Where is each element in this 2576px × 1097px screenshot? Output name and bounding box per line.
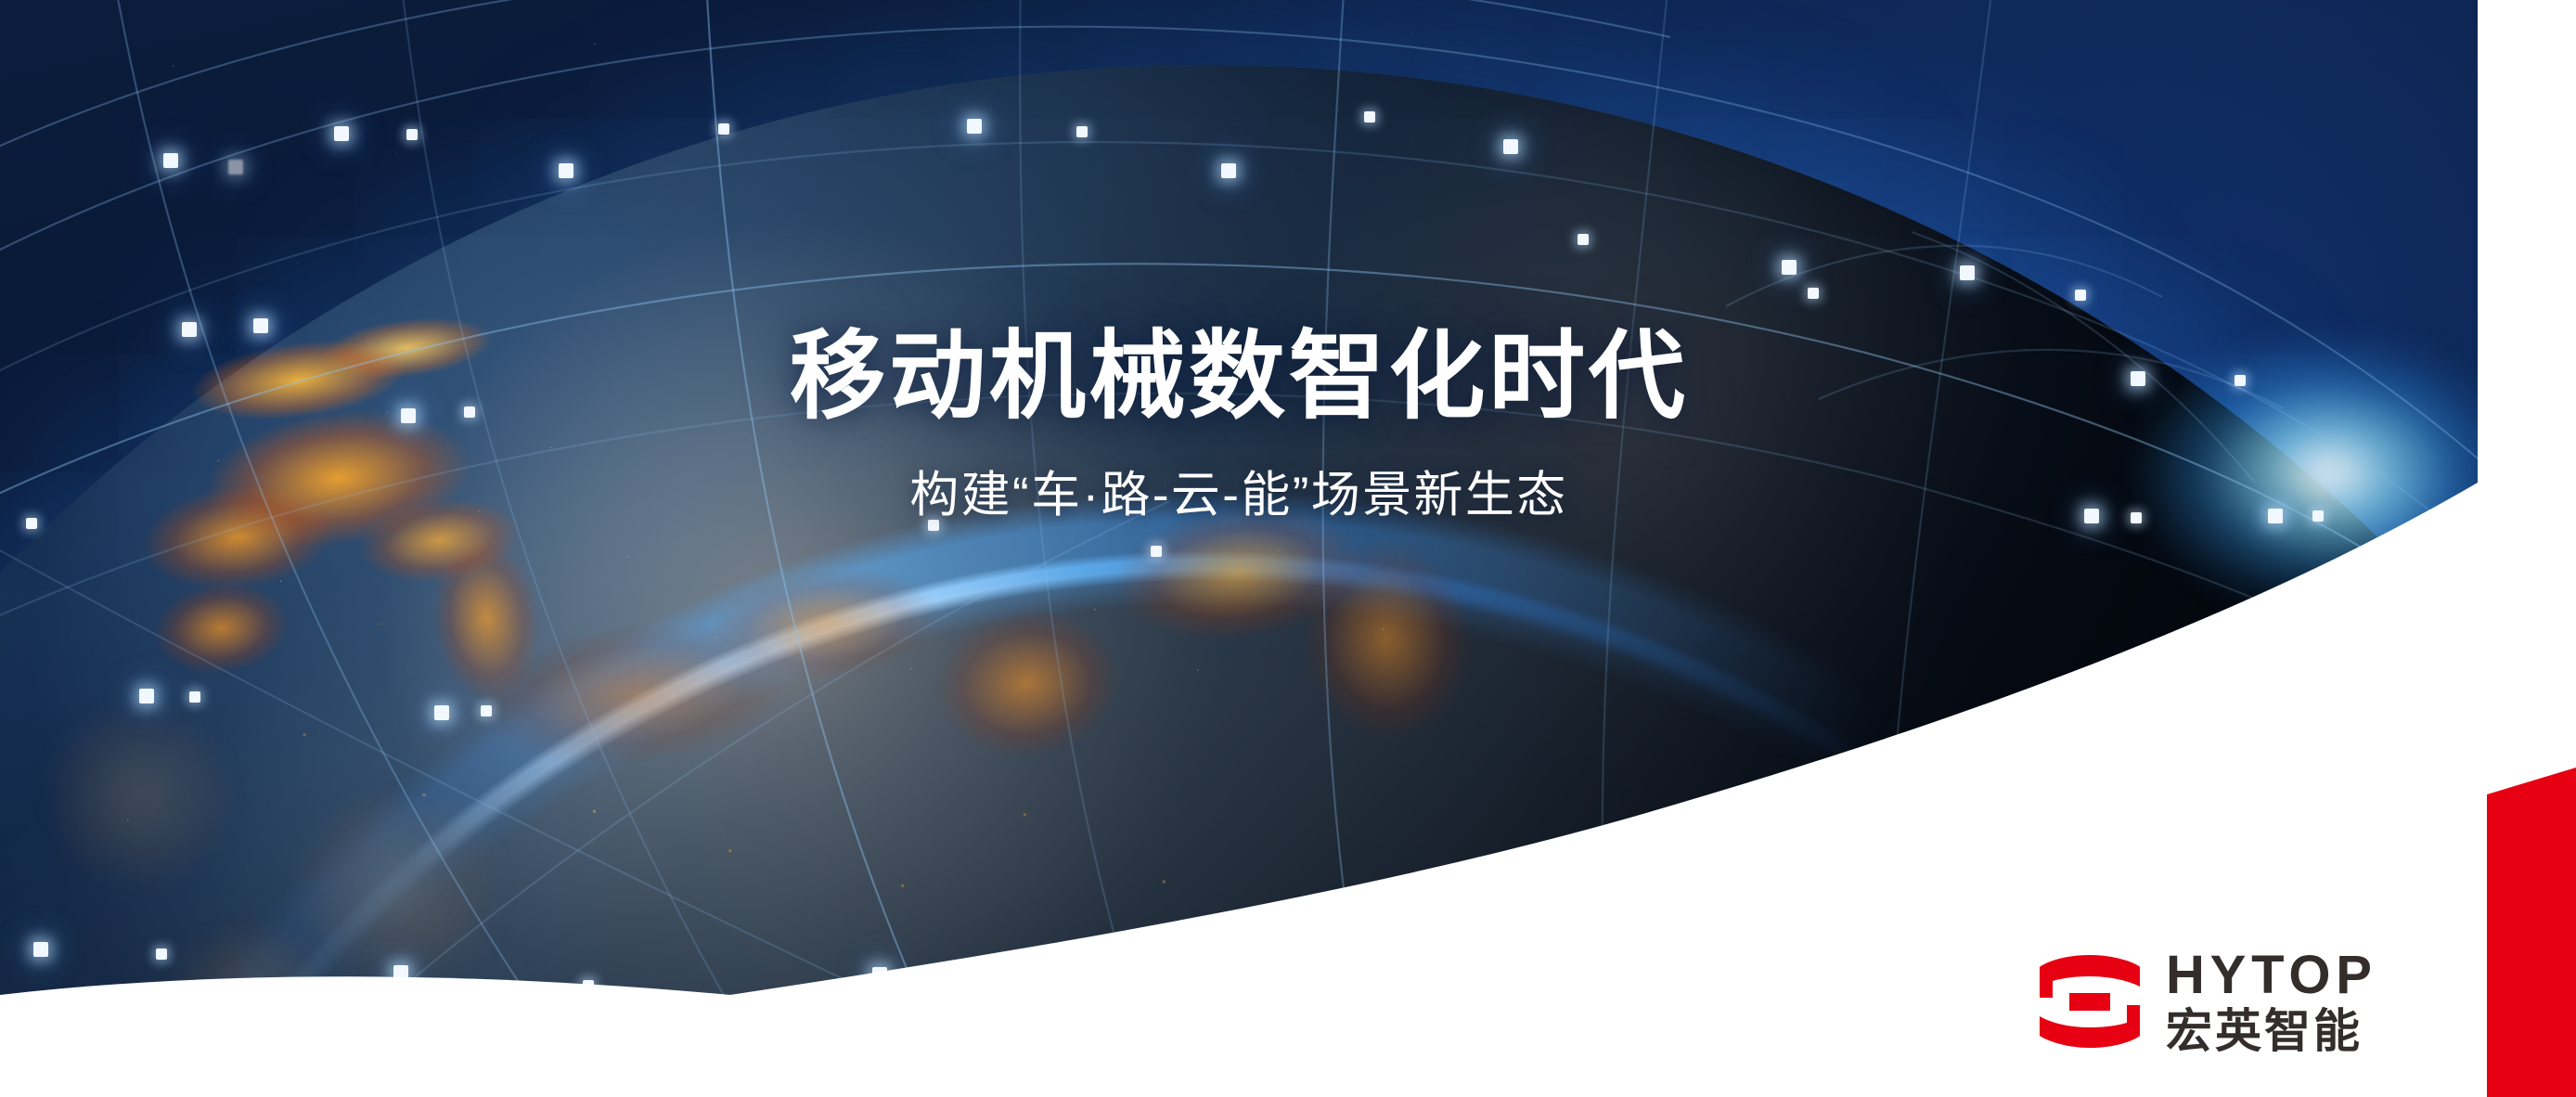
network-node: [406, 129, 418, 140]
logo-latin-name: HYTOP: [2166, 949, 2377, 1002]
network-node: [1221, 163, 1236, 178]
network-node: [559, 163, 573, 178]
network-node: [1095, 963, 1106, 974]
network-node: [393, 965, 408, 980]
network-node: [967, 119, 982, 134]
network-node: [33, 942, 48, 957]
company-logo: HYTOP 宏英智能: [2038, 949, 2377, 1054]
network-node: [334, 126, 349, 141]
logo-chinese-name: 宏英智能: [2166, 1008, 2377, 1054]
network-node: [1578, 234, 1589, 245]
network-node: [1364, 111, 1375, 123]
network-node: [2075, 290, 2086, 301]
network-overlay: [0, 0, 2478, 1097]
network-node: [163, 153, 178, 168]
hytop-g-mark-icon: [2038, 953, 2142, 1050]
network-node: [1960, 265, 1975, 280]
network-node: [1410, 949, 1425, 963]
network-node: [1782, 260, 1797, 275]
network-node: [2329, 689, 2340, 700]
network-node: [189, 691, 200, 703]
page-subtitle: 构建“车·路-云-能”场景新生态: [0, 456, 2478, 526]
logo-wordmark: HYTOP 宏英智能: [2166, 949, 2377, 1054]
network-node: [139, 689, 154, 703]
network-node: [481, 705, 492, 716]
hero-background-image: [0, 0, 2478, 1097]
network-node: [1503, 139, 1518, 154]
red-accent-band: [2487, 768, 2576, 1097]
title-block: 移动机械数智化时代 构建“车·路-云-能”场景新生态: [0, 327, 2478, 526]
network-node: [156, 949, 167, 960]
title-slide: 移动机械数智化时代 构建“车·路-云-能”场景新生态 HYTOP 宏英智能: [0, 0, 2576, 1097]
network-node: [718, 123, 729, 135]
network-node: [434, 705, 449, 720]
page-title: 移动机械数智化时代: [0, 327, 2478, 428]
network-node: [583, 980, 594, 991]
network-node: [1808, 288, 1819, 299]
network-node: [1076, 126, 1088, 137]
network-node: [1151, 546, 1162, 557]
network-node: [872, 967, 887, 982]
network-node: [228, 160, 243, 174]
